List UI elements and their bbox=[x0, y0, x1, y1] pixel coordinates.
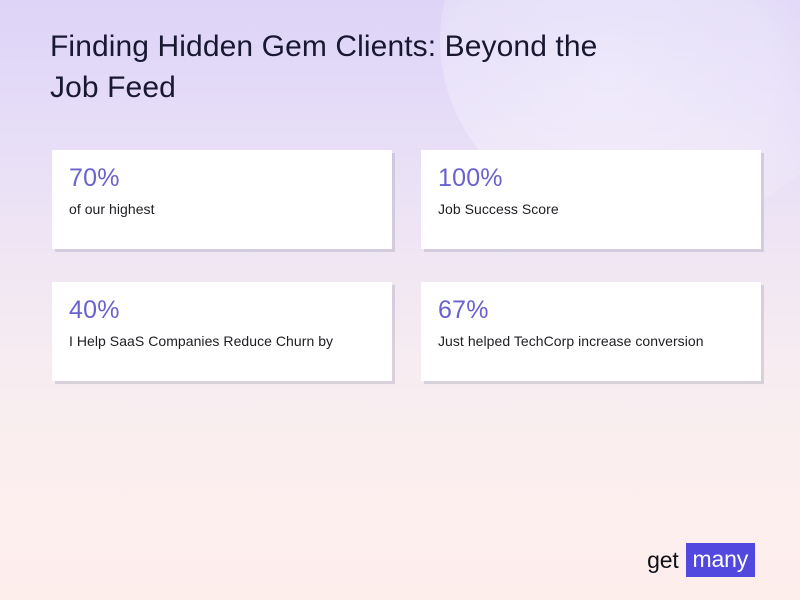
stat-label: Job Success Score bbox=[438, 199, 744, 219]
stat-label: I Help SaaS Companies Reduce Churn by bbox=[69, 331, 375, 351]
logo-word-many: many bbox=[686, 543, 755, 577]
stat-value: 67% bbox=[438, 296, 744, 325]
page-title: Finding Hidden Gem Clients: Beyond the J… bbox=[50, 26, 740, 108]
stat-card[interactable]: 40% I Help SaaS Companies Reduce Churn b… bbox=[52, 282, 392, 381]
stat-card[interactable]: 70% of our highest bbox=[52, 150, 392, 249]
stat-card[interactable]: 67% Just helped TechCorp increase conver… bbox=[421, 282, 761, 381]
stat-value: 100% bbox=[438, 164, 744, 193]
getmany-logo: get many bbox=[647, 545, 755, 575]
slide-canvas: Finding Hidden Gem Clients: Beyond the J… bbox=[0, 0, 800, 600]
logo-word-get: get bbox=[647, 545, 678, 575]
stat-value: 40% bbox=[69, 296, 375, 325]
stat-label: Just helped TechCorp increase conversion bbox=[438, 331, 744, 351]
stat-label: of our highest bbox=[69, 199, 375, 219]
stat-value: 70% bbox=[69, 164, 375, 193]
stat-card-grid: 70% of our highest 100% Job Success Scor… bbox=[52, 150, 763, 381]
stat-card[interactable]: 100% Job Success Score bbox=[421, 150, 761, 249]
